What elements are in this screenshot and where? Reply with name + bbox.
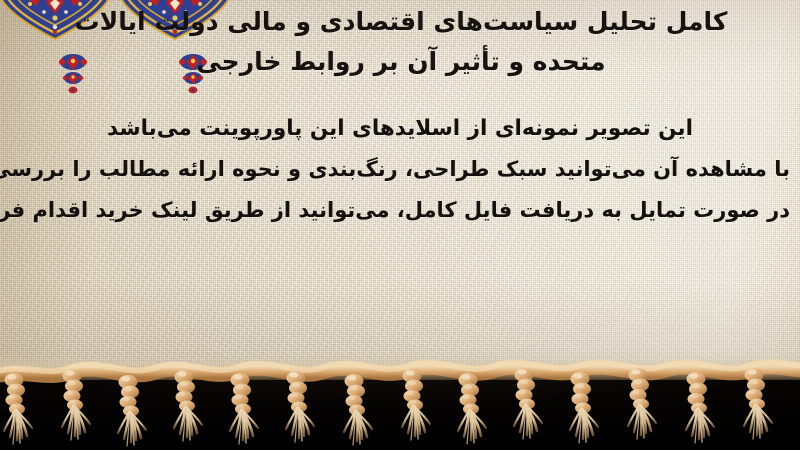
carpet-fringe-row <box>0 352 800 450</box>
fringe-tassel <box>62 369 90 440</box>
slide-body-line-1: این تصویر نمونه‌ای از اسلایدهای این پاور… <box>10 108 790 149</box>
fringe-tassel <box>744 368 772 439</box>
fringe-tassel <box>230 373 258 444</box>
fringe-tassel <box>570 372 598 443</box>
slide-body-text: این تصویر نمونه‌ای از اسلایدهای این پاور… <box>10 108 790 231</box>
fringe-tassel <box>344 374 372 445</box>
slide-text-layer: کامل تحلیل سیاست‌های اقتصادی و مالی دولت… <box>0 0 800 392</box>
slide-title-line-2: متحده و تأثیر آن بر روابط خارجی <box>16 42 786 82</box>
fringe-tassel <box>118 375 146 446</box>
powerpoint-slide-sample-image: کامل تحلیل سیاست‌های اقتصادی و مالی دولت… <box>0 0 800 450</box>
fringe-tassel <box>174 370 202 441</box>
slide-body-line-2: با مشاهده آن می‌توانید سبک طراحی، رنگ‌بن… <box>10 149 790 190</box>
fringe-tassel <box>514 368 542 439</box>
fringe-tassel <box>402 369 430 440</box>
slide-body-line-3: در صورت تمایل به دریافت فایل کامل، می‌تو… <box>10 190 790 231</box>
slide-title: کامل تحلیل سیاست‌های اقتصادی و مالی دولت… <box>16 2 786 82</box>
fringe-tassel <box>4 373 32 444</box>
fringe-tassel <box>458 373 486 444</box>
slide-title-line-1: کامل تحلیل سیاست‌های اقتصادی و مالی دولت… <box>75 7 728 36</box>
fringe-tassel <box>686 372 714 443</box>
